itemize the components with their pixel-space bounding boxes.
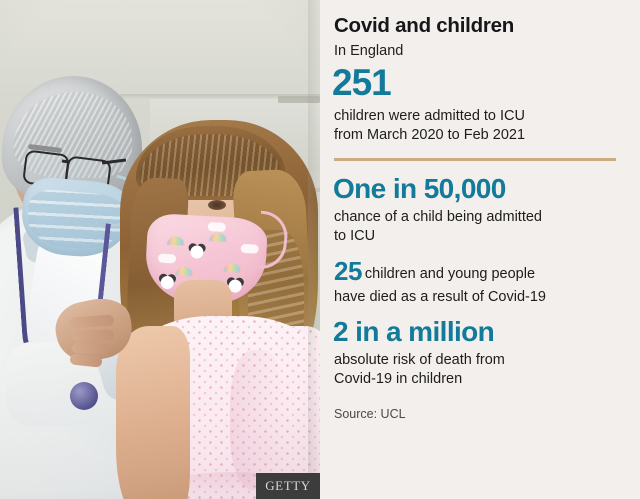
section-divider (334, 158, 616, 161)
stat-icu-line-1: children were admitted to ICU (334, 108, 525, 124)
gown-shadow (230, 350, 286, 490)
mask-cloud-motif (208, 222, 226, 232)
stat-two-in-a-million-description: absolute risk of death from Covid-19 in … (334, 351, 620, 389)
child-figure (122, 120, 320, 499)
source-attribution: Source: UCL (334, 407, 620, 421)
doctor-finger (72, 342, 110, 354)
mask-rainbow-motif (209, 232, 227, 242)
child-eye-right (208, 200, 226, 210)
stat-deaths-line-2: have died as a result of Covid-19 (334, 289, 546, 305)
mask-panda-motif (190, 245, 204, 259)
stat-one-in-50000-heading: One in 50,000 (333, 174, 620, 203)
stat-one-in-line-1: chance of a child being admitted (334, 209, 542, 225)
mask-rainbow-motif (223, 263, 241, 273)
stat-one-in-50000-description: chance of a child being admitted to ICU (334, 208, 620, 246)
stat-two-in-a-million-heading: 2 in a million (333, 317, 620, 346)
mask-cloud-motif (158, 253, 176, 263)
stethoscope-chestpiece (70, 382, 98, 410)
mask-rainbow-motif (167, 236, 185, 246)
photo-right-edge-shade (308, 0, 320, 499)
stat-icu-admissions-number: 251 (332, 64, 620, 102)
mask-panda-motif (160, 276, 174, 290)
stat-risk-line-1: absolute risk of death from (334, 352, 505, 368)
page-title: Covid and children (334, 15, 620, 38)
stat-deaths-line-1: children and young people (365, 266, 535, 282)
stat-icu-admissions-description: children were admitted to ICU from March… (334, 107, 620, 145)
stat-risk-line-2: Covid-19 in children (334, 371, 462, 387)
statistics-panel: Covid and children In England 251 childr… (320, 0, 640, 499)
stat-deaths-number: 25 (334, 256, 362, 286)
mask-rainbow-motif (175, 266, 193, 276)
stat-icu-line-2: from March 2020 to Feb 2021 (334, 127, 525, 143)
getty-credit-badge: GETTY (256, 473, 320, 499)
stat-one-in-line-2: to ICU (334, 228, 375, 244)
covid-children-infographic: GETTY Covid and children In England 251 … (0, 0, 640, 499)
subtitle-region: In England (334, 42, 620, 60)
photo-doctor-examining-child: GETTY (0, 0, 320, 499)
child-arm (116, 326, 190, 499)
doctor-finger (72, 329, 114, 341)
stat-deaths-block: 25children and young people have died as… (334, 254, 620, 307)
